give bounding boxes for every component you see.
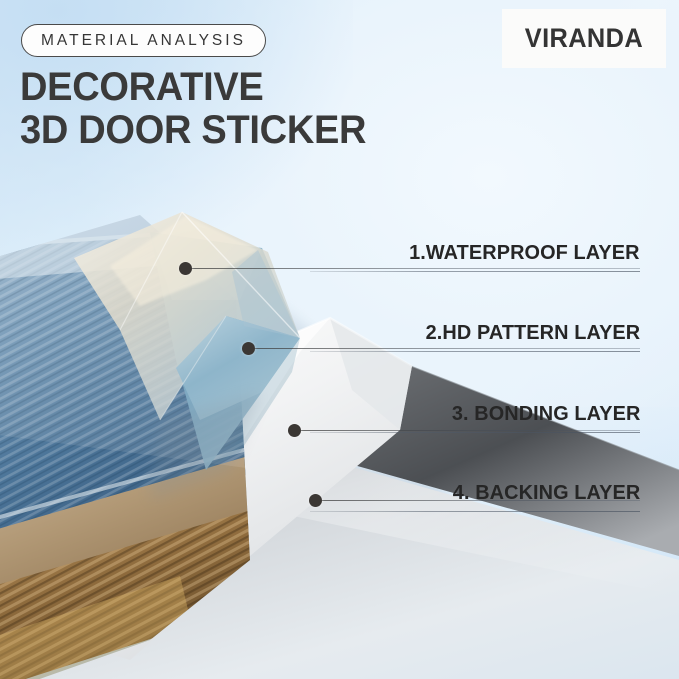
- callout-list: 1.WATERPROOF LAYER2.HD PATTERN LAYER3. B…: [0, 0, 679, 679]
- leader-line-hd-pattern: [255, 348, 640, 349]
- callout-dot-hd-pattern: [242, 342, 255, 355]
- callout-underline-hd-pattern: [310, 351, 640, 352]
- callout-underline-waterproof: [310, 271, 640, 272]
- leader-line-backing: [322, 500, 640, 501]
- callout-underline-backing: [310, 511, 640, 512]
- callout-dot-waterproof: [179, 262, 192, 275]
- leader-line-bonding: [301, 430, 640, 431]
- callout-text-bonding: 3. BONDING LAYER: [451, 404, 640, 425]
- product-infographic: MATERIAL ANALYSIS DECORATIVE 3D DOOR STI…: [0, 0, 679, 679]
- callout-label-bonding: 3. BONDING LAYER: [310, 404, 640, 433]
- leader-line-waterproof: [192, 268, 640, 269]
- callout-text-waterproof: 1.WATERPROOF LAYER: [410, 243, 640, 264]
- callout-dot-bonding: [288, 424, 301, 437]
- callout-dot-backing: [309, 494, 322, 507]
- callout-underline-bonding: [310, 432, 640, 433]
- callout-label-backing: 4. BACKING LAYER: [310, 483, 640, 512]
- callout-text-hd-pattern: 2.HD PATTERN LAYER: [425, 323, 640, 344]
